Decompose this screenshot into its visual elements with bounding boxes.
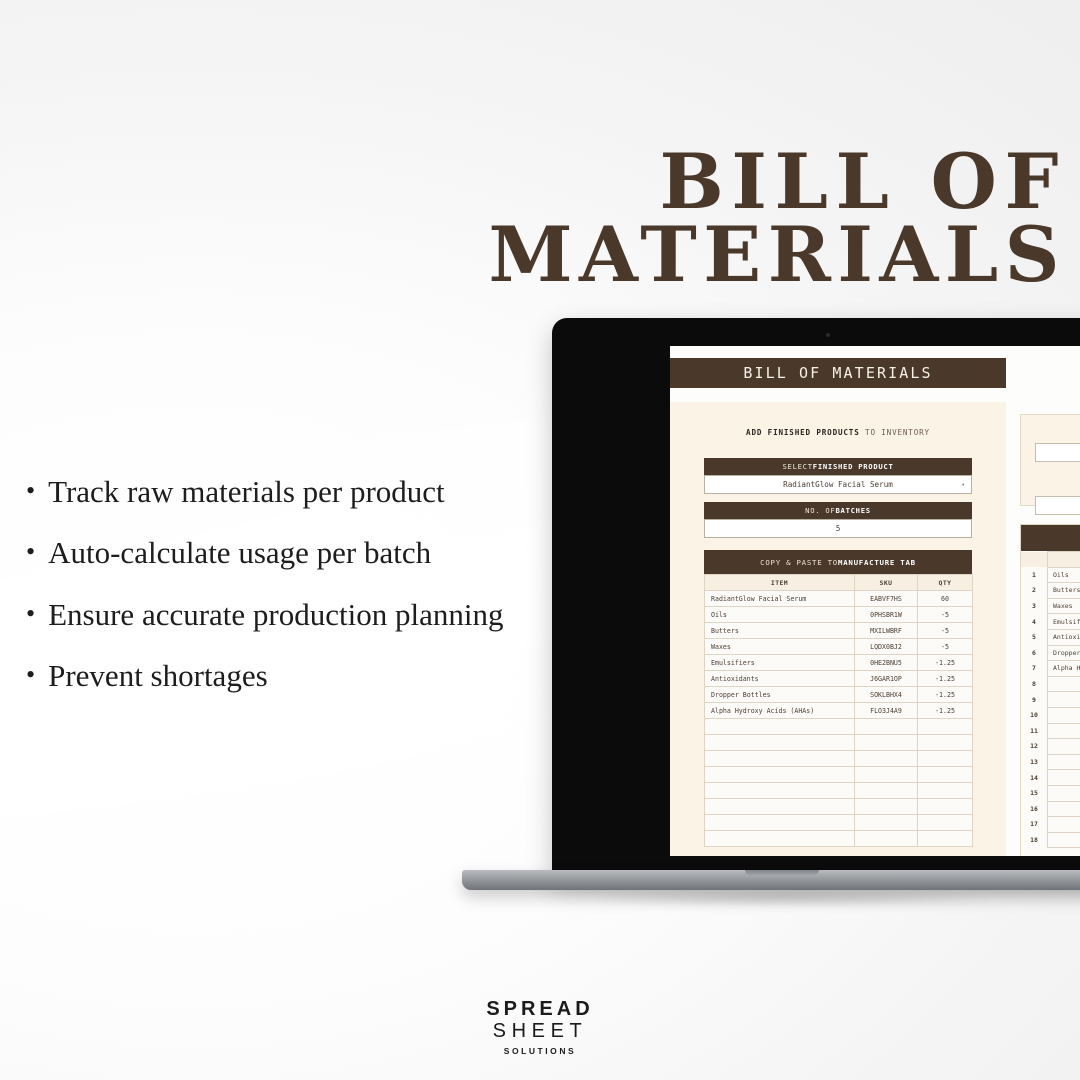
bom-row-number: 7 — [1021, 661, 1048, 677]
cell-item — [705, 815, 855, 831]
bom-rownum-header — [1021, 552, 1048, 568]
bom-row[interactable]: 17 — [1021, 817, 1080, 833]
bom-panel: BILL OF M ITEM 1Oils2Butters3Waxes4Emuls… — [1020, 524, 1080, 856]
select-product-label: SELECT FINISHED PRODUCT — [704, 458, 972, 475]
cell-qty: -1.25 — [918, 703, 973, 719]
bom-row-number: 2 — [1021, 583, 1048, 599]
bom-cell-item — [1048, 832, 1080, 848]
table-row-empty[interactable] — [705, 719, 973, 735]
column-header-qty: QTY — [918, 575, 973, 591]
cell-qty — [918, 719, 973, 735]
table-row[interactable]: Alpha Hydroxy Acids (AHAs) FLO3J4A9 -1.2… — [705, 703, 973, 719]
select-product-label-plain: SELECT — [782, 462, 812, 471]
cell-qty — [918, 735, 973, 751]
cell-item — [705, 799, 855, 815]
bom-cell-item — [1048, 676, 1080, 692]
cell-item — [705, 783, 855, 799]
cell-item: Emulsifiers — [705, 655, 855, 671]
cell-item: Dropper Bottles — [705, 687, 855, 703]
bom-row-number: 9 — [1021, 692, 1048, 708]
bom-row-number: 15 — [1021, 785, 1048, 801]
cell-qty — [918, 751, 973, 767]
bom-row[interactable]: 16 — [1021, 801, 1080, 817]
poster-stage: BILL OF MATERIALS • Track raw materials … — [0, 0, 1080, 1080]
table-row-empty[interactable] — [705, 831, 973, 847]
batches-field: NO. OF BATCHES 5 — [704, 502, 972, 538]
cell-qty: -1.25 — [918, 687, 973, 703]
bom-cell-item — [1048, 801, 1080, 817]
bom-cell-item: Butters — [1048, 583, 1080, 599]
bom-row-number: 17 — [1021, 817, 1048, 833]
copy-paste-table-header: COPY & PASTE TO MANUFACTURE TAB — [704, 550, 972, 574]
cell-item: RadiantGlow Facial Serum — [705, 591, 855, 607]
bom-cell-item: Waxes — [1048, 598, 1080, 614]
table-row-empty[interactable] — [705, 751, 973, 767]
bom-cell-item — [1048, 692, 1080, 708]
cell-item — [705, 831, 855, 847]
bom-row-number: 13 — [1021, 754, 1048, 770]
bom-row[interactable]: 12 — [1021, 739, 1080, 755]
table-row-empty[interactable] — [705, 815, 973, 831]
cell-sku — [855, 783, 918, 799]
bullet-icon: • — [26, 597, 35, 630]
cell-qty: -5 — [918, 639, 973, 655]
bom-row[interactable]: 14 — [1021, 770, 1080, 786]
bom-row[interactable]: 4Emulsifiers — [1021, 614, 1080, 630]
laptop-mockup: BILL OF MATERIALS ADD FINISHED PRODUCTS … — [462, 318, 1080, 918]
sheet-title-bar: BILL OF MATERIALS — [670, 358, 1006, 388]
bom-row-number: 18 — [1021, 832, 1048, 848]
logo-line-3: SOLUTIONS — [0, 1046, 1080, 1056]
bom-row-number: 10 — [1021, 707, 1048, 723]
table-row[interactable]: Emulsifiers 0HE2BNU5 -1.25 — [705, 655, 973, 671]
subtitle-bold: ADD FINISHED PRODUCTS — [746, 428, 860, 437]
bom-row-number: 8 — [1021, 676, 1048, 692]
table-header-row: ITEM SKU QTY — [705, 575, 973, 591]
bom-row[interactable]: 3Waxes — [1021, 598, 1080, 614]
cell-sku — [855, 719, 918, 735]
table-row[interactable]: Oils 0PHSBR1W -5 — [705, 607, 973, 623]
bom-row-number: 6 — [1021, 645, 1048, 661]
cell-qty: -1.25 — [918, 655, 973, 671]
bom-cell-item — [1048, 739, 1080, 755]
cell-qty — [918, 831, 973, 847]
batches-label-plain: NO. OF — [805, 506, 835, 515]
laptop-base — [462, 870, 1080, 890]
bom-cell-item — [1048, 723, 1080, 739]
cell-qty — [918, 783, 973, 799]
table-row[interactable]: Antioxidants J6GAR1OP -1.25 — [705, 671, 973, 687]
cell-sku: SOKLBHX4 — [855, 687, 918, 703]
cell-sku: MXILWBRF — [855, 623, 918, 639]
logo-line-1: SPREAD — [0, 999, 1080, 1020]
laptop-screen: BILL OF MATERIALS ADD FINISHED PRODUCTS … — [670, 346, 1080, 856]
copy-paste-header-plain: COPY & PASTE TO — [760, 558, 838, 567]
bom-row[interactable]: 11 — [1021, 723, 1080, 739]
cell-item: Waxes — [705, 639, 855, 655]
bom-row[interactable]: 8 — [1021, 676, 1080, 692]
cell-item: Alpha Hydroxy Acids (AHAs) — [705, 703, 855, 719]
cell-item: Oils — [705, 607, 855, 623]
laptop-lid: BILL OF MATERIALS ADD FINISHED PRODUCTS … — [552, 318, 1080, 878]
bullet-icon: • — [26, 658, 35, 691]
select-product-field: SELECT FINISHED PRODUCT RadiantGlow Faci… — [704, 458, 972, 494]
cell-qty — [918, 815, 973, 831]
bom-row[interactable]: 18 — [1021, 832, 1080, 848]
table-row-empty[interactable] — [705, 735, 973, 751]
table-row[interactable]: Dropper Bottles SOKLBHX4 -1.25 — [705, 687, 973, 703]
bullet-icon: • — [26, 535, 35, 568]
bom-cell-item — [1048, 754, 1080, 770]
makes-label: M A K E S — [1021, 484, 1080, 492]
column-header-sku: SKU — [855, 575, 918, 591]
cell-sku: LQDX0BJ2 — [855, 639, 918, 655]
cell-qty — [918, 767, 973, 783]
bom-cell-item: Antioxidants — [1048, 629, 1080, 645]
cell-sku: 0PHSBR1W — [855, 607, 918, 623]
left-panel: ADD FINISHED PRODUCTS TO INVENTORY SELEC… — [670, 402, 1006, 856]
bom-row-number: 3 — [1021, 598, 1048, 614]
bom-grid: ITEM 1Oils2Butters3Waxes4Emulsifiers5Ant… — [1021, 551, 1080, 848]
bullet-icon: • — [26, 474, 35, 507]
bom-row[interactable]: 10 — [1021, 707, 1080, 723]
bom-row[interactable]: 5Antioxidants — [1021, 629, 1080, 645]
column-header-item: ITEM — [705, 575, 855, 591]
bom-row[interactable]: 13 — [1021, 754, 1080, 770]
bom-row[interactable]: 1Oils — [1021, 567, 1080, 583]
bom-row-number: 12 — [1021, 739, 1048, 755]
finished-label: F I N I S H E D — [1021, 431, 1080, 439]
bom-row-number: 5 — [1021, 629, 1048, 645]
bom-column-header-item: ITEM — [1048, 552, 1080, 568]
select-product-label-bold: FINISHED PRODUCT — [813, 462, 894, 471]
subtitle-rest: TO INVENTORY — [865, 428, 930, 437]
cell-sku: J6GAR1OP — [855, 671, 918, 687]
bom-cell-item: Emulsifiers — [1048, 614, 1080, 630]
cell-item — [705, 735, 855, 751]
copy-paste-empty-rows — [705, 719, 973, 847]
cell-sku — [855, 831, 918, 847]
cell-qty: -5 — [918, 623, 973, 639]
copy-paste-grid: ITEM SKU QTY RadiantGlow Facial Serum EA… — [704, 574, 973, 847]
select-product-value: RadiantGlow Facial Serum — [783, 480, 893, 489]
batches-input[interactable]: 5 — [704, 519, 972, 538]
finished-value-input[interactable]: RadiantGlow Fa — [1035, 443, 1080, 462]
cell-qty — [918, 799, 973, 815]
bom-row-number: 1 — [1021, 567, 1048, 583]
table-row-empty[interactable] — [705, 783, 973, 799]
bom-cell-item: Alpha Hydroxy Acids (AHAs) — [1048, 661, 1080, 677]
cell-qty: -5 — [918, 607, 973, 623]
cell-item: Butters — [705, 623, 855, 639]
bom-panel-header: BILL OF M — [1021, 525, 1080, 551]
cell-sku — [855, 735, 918, 751]
cell-qty: 60 — [918, 591, 973, 607]
cell-sku — [855, 815, 918, 831]
copy-paste-body: RadiantGlow Facial Serum EABVF7HS 60 Oil… — [705, 591, 973, 719]
batches-label-bold: BATCHES — [835, 506, 870, 515]
bom-row[interactable]: 15 — [1021, 785, 1080, 801]
batches-label: NO. OF BATCHES — [704, 502, 972, 519]
table-row-empty[interactable] — [705, 799, 973, 815]
bom-row[interactable]: 7Alpha Hydroxy Acids (AHAs) — [1021, 661, 1080, 677]
brand-logo: SPREAD SHEET SOLUTIONS — [0, 999, 1080, 1056]
table-row-empty[interactable] — [705, 767, 973, 783]
cell-item: Antioxidants — [705, 671, 855, 687]
bom-row[interactable]: 6Dropper Bottles — [1021, 645, 1080, 661]
cell-item — [705, 751, 855, 767]
webcam-icon — [826, 333, 830, 337]
bom-row[interactable]: 2Butters — [1021, 583, 1080, 599]
bom-cell-item — [1048, 817, 1080, 833]
bom-row-number: 11 — [1021, 723, 1048, 739]
cell-sku — [855, 767, 918, 783]
makes-value-input[interactable]: 12 — [1035, 496, 1080, 515]
cell-qty: -1.25 — [918, 671, 973, 687]
laptop-shadow — [482, 888, 1080, 908]
bom-cell-item — [1048, 785, 1080, 801]
copy-paste-header-bold: MANUFACTURE TAB — [838, 558, 916, 567]
cell-sku: FLO3J4A9 — [855, 703, 918, 719]
finished-product-panel: F I N I S H E D RadiantGlow Fa M A K E S… — [1020, 414, 1080, 506]
batches-value: 5 — [836, 524, 841, 533]
cell-item — [705, 767, 855, 783]
bom-row-number: 4 — [1021, 614, 1048, 630]
logo-line-2: SHEET — [0, 1020, 1080, 1043]
bom-cell-item — [1048, 707, 1080, 723]
headline-line-2: MATERIALS — [306, 219, 1066, 292]
chevron-down-icon[interactable]: ▾ — [961, 481, 965, 488]
page-title: BILL OF MATERIALS — [306, 146, 1066, 292]
section-subtitle: ADD FINISHED PRODUCTS TO INVENTORY — [670, 428, 1006, 437]
table-row[interactable]: Waxes LQDX0BJ2 -5 — [705, 639, 973, 655]
bom-row-number: 16 — [1021, 801, 1048, 817]
bom-cell-item — [1048, 770, 1080, 786]
cell-sku: 0HE2BNU5 — [855, 655, 918, 671]
bom-cell-item: Dropper Bottles — [1048, 645, 1080, 661]
copy-paste-table: COPY & PASTE TO MANUFACTURE TAB ITEM SKU — [704, 550, 972, 847]
cell-sku — [855, 799, 918, 815]
bom-row[interactable]: 9 — [1021, 692, 1080, 708]
cell-item — [705, 719, 855, 735]
table-row[interactable]: RadiantGlow Facial Serum EABVF7HS 60 — [705, 591, 973, 607]
bom-header-row: ITEM — [1021, 552, 1080, 568]
cell-sku: EABVF7HS — [855, 591, 918, 607]
bom-row-number: 14 — [1021, 770, 1048, 786]
spreadsheet-app: BILL OF MATERIALS ADD FINISHED PRODUCTS … — [670, 346, 1080, 856]
cell-sku — [855, 751, 918, 767]
select-product-dropdown[interactable]: RadiantGlow Facial Serum ▾ — [704, 475, 972, 494]
table-row[interactable]: Butters MXILWBRF -5 — [705, 623, 973, 639]
bom-cell-item: Oils — [1048, 567, 1080, 583]
bom-body: 1Oils2Butters3Waxes4Emulsifiers5Antioxid… — [1021, 567, 1080, 848]
